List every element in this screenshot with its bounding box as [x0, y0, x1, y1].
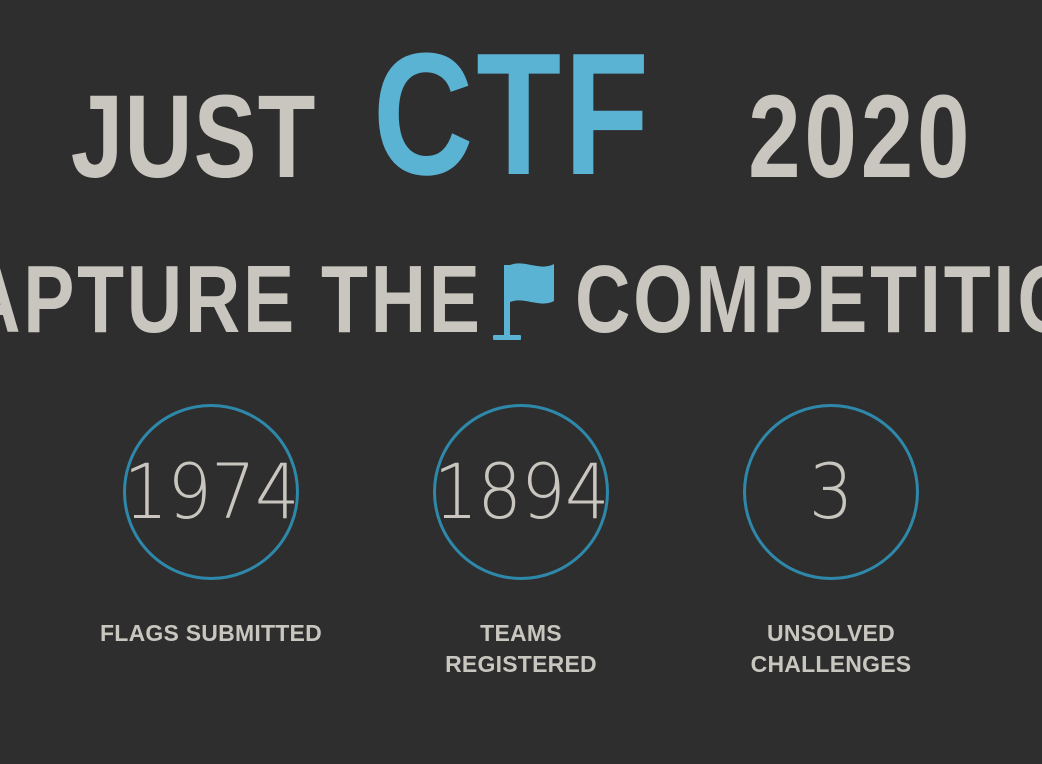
logo-mark-ctf: CTF	[372, 43, 651, 186]
ctf-landing-page: JUST CTF 2020 CAPTURE THE COMPETITION 19…	[0, 0, 1042, 764]
tagline-text-left: CAPTURE THE	[0, 252, 483, 348]
tagline: CAPTURE THE COMPETITION	[0, 252, 1042, 348]
stat-label-unsolved-challenges: UNSOLVED CHALLENGES	[716, 618, 946, 680]
stat-circle-teams-registered: 1894	[433, 404, 609, 580]
site-logo: JUST CTF 2020	[0, 26, 1042, 186]
logo-prefix-just: JUST	[71, 89, 317, 186]
stat-label-teams-registered: TEAMS REGISTERED	[406, 618, 636, 680]
stat-flags-submitted: 1974 FLAGS SUBMITTED	[56, 404, 366, 649]
stat-teams-registered: 1894 TEAMS REGISTERED	[366, 404, 676, 680]
stat-value-flags-submitted: 1974	[123, 454, 298, 530]
stat-circle-flags-submitted: 1974	[123, 404, 299, 580]
stat-value-teams-registered: 1894	[433, 454, 608, 530]
stat-label-flags-submitted: FLAGS SUBMITTED	[100, 618, 322, 649]
statistics-row: 1974 FLAGS SUBMITTED 1894 TEAMS REGISTER…	[0, 404, 1042, 680]
logo-year: 2020	[748, 89, 973, 186]
flag-icon	[489, 257, 569, 347]
stat-unsolved-challenges: 3 UNSOLVED CHALLENGES	[676, 404, 986, 680]
stat-circle-unsolved-challenges: 3	[743, 404, 919, 580]
stat-value-unsolved-challenges: 3	[809, 454, 853, 530]
tagline-text-right: COMPETITION	[575, 252, 1042, 348]
